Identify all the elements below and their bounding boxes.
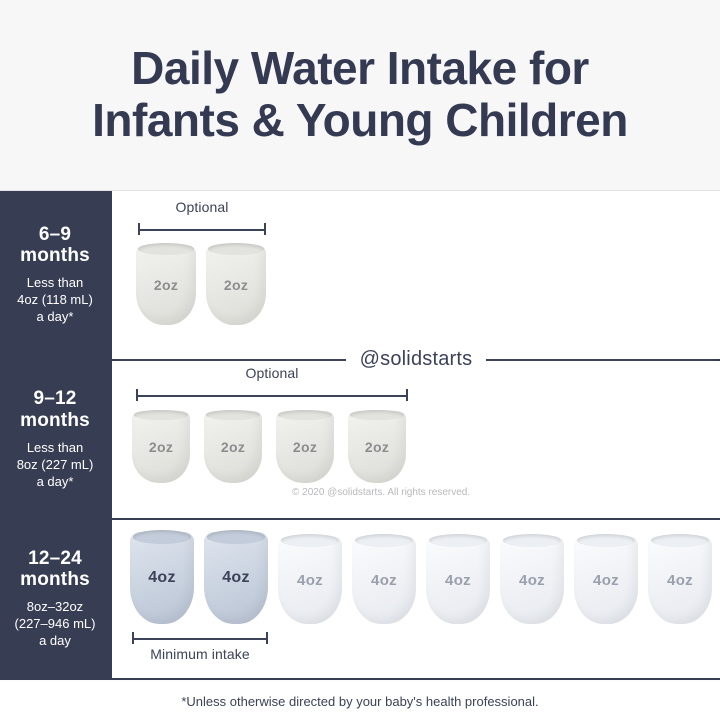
bracket-bar bbox=[138, 229, 266, 231]
cup-label: 2oz bbox=[365, 439, 389, 455]
cup-rim bbox=[133, 530, 192, 544]
footer-bar: *Unless otherwise directed by your baby'… bbox=[0, 683, 720, 720]
sidebar-12-24-months: 12–24 months 8oz–32oz (227–946 mL) a day bbox=[0, 520, 110, 678]
panel-9-12-months: Optional 2oz 2oz bbox=[110, 361, 720, 518]
bracket-bar bbox=[136, 395, 408, 397]
bracket-label-optional-row1: Optional bbox=[138, 199, 266, 215]
cup-rim bbox=[206, 410, 259, 421]
bracket-cap-right bbox=[264, 223, 266, 235]
cup-row-12-24-months: 4oz 4oz 4oz 4oz bbox=[130, 532, 712, 624]
cup-4oz-3: 4oz bbox=[278, 536, 342, 624]
cup-label: 2oz bbox=[221, 439, 245, 455]
cup-rim bbox=[134, 410, 187, 421]
cup-label: 4oz bbox=[222, 569, 250, 587]
watermark-handle: @solidstarts bbox=[346, 348, 487, 371]
bracket-cap-right bbox=[266, 632, 268, 644]
bracket-cap-right bbox=[406, 389, 408, 401]
age-row-6-9-months: 6–9 months Less than 4oz (118 mL) a day*… bbox=[0, 191, 720, 361]
header-banner: Daily Water Intake for Infants & Young C… bbox=[0, 0, 720, 191]
cup-rim bbox=[350, 410, 403, 421]
amount-label: 8oz–32oz (227–946 mL) a day bbox=[15, 599, 96, 650]
age-range-label: 12–24 months bbox=[20, 548, 90, 591]
copyright-note: © 2020 @solidstarts. All rights reserved… bbox=[292, 487, 470, 498]
age-range-label: 9–12 months bbox=[20, 388, 90, 431]
age-range-line-2: months bbox=[20, 245, 90, 266]
cup-label: 2oz bbox=[224, 277, 248, 293]
amount-label: Less than 4oz (118 mL) a day* bbox=[17, 275, 93, 326]
cup-label: 2oz bbox=[293, 439, 317, 455]
bracket-optional-row2 bbox=[136, 389, 408, 401]
cup-4oz-7: 4oz bbox=[574, 536, 638, 624]
panel-6-9-months: Optional 2oz 2oz bbox=[110, 191, 720, 359]
cup-2oz-1: 2oz bbox=[132, 411, 190, 483]
page-title-line-1: Daily Water Intake for bbox=[131, 43, 589, 95]
cup-2oz-4: 2oz bbox=[348, 411, 406, 483]
cup-2oz-1: 2oz bbox=[136, 245, 196, 325]
page-title-line-2: Infants & Young Children bbox=[92, 95, 628, 147]
bracket-cap-left bbox=[138, 223, 140, 235]
cup-4oz-8: 4oz bbox=[648, 536, 712, 624]
cup-label: 4oz bbox=[297, 572, 323, 589]
watermark-divider: @solidstarts bbox=[112, 348, 720, 371]
cup-4oz-5: 4oz bbox=[426, 536, 490, 624]
amount-label: Less than 8oz (227 mL) a day* bbox=[17, 440, 94, 491]
watermark-line-left bbox=[116, 359, 346, 361]
infographic-root: Daily Water Intake for Infants & Young C… bbox=[0, 0, 720, 720]
cup-row-6-9-months: 2oz 2oz bbox=[136, 245, 266, 325]
cup-4oz-2: 4oz bbox=[204, 532, 268, 624]
amount-line-3: a day bbox=[15, 633, 96, 650]
cup-label: 4oz bbox=[445, 572, 471, 589]
age-range-line-1: 9–12 bbox=[20, 388, 90, 409]
bracket-minimum-intake bbox=[132, 632, 268, 644]
cup-2oz-2: 2oz bbox=[206, 245, 266, 325]
amount-line-1: Less than bbox=[17, 275, 93, 292]
amount-line-2: 4oz (118 mL) bbox=[17, 292, 93, 309]
sidebar-9-12-months: 9–12 months Less than 8oz (227 mL) a day… bbox=[0, 361, 110, 518]
watermark-line-right bbox=[486, 359, 716, 361]
cup-label: 4oz bbox=[148, 569, 176, 587]
amount-line-1: 8oz–32oz bbox=[15, 599, 96, 616]
bracket-label-minimum-intake: Minimum intake bbox=[132, 646, 268, 662]
cup-rim bbox=[278, 410, 331, 421]
cup-label: 4oz bbox=[667, 572, 693, 589]
cup-2oz-3: 2oz bbox=[276, 411, 334, 483]
sidebar-6-9-months: 6–9 months Less than 4oz (118 mL) a day* bbox=[0, 191, 110, 359]
amount-line-2: 8oz (227 mL) bbox=[17, 457, 94, 474]
cup-label: 4oz bbox=[519, 572, 545, 589]
age-range-line-1: 6–9 bbox=[20, 224, 90, 245]
cup-label: 2oz bbox=[149, 439, 173, 455]
cup-label: 4oz bbox=[593, 572, 619, 589]
cup-2oz-2: 2oz bbox=[204, 411, 262, 483]
bracket-bar bbox=[132, 638, 268, 640]
age-row-9-12-months: 9–12 months Less than 8oz (227 mL) a day… bbox=[0, 361, 720, 520]
cup-4oz-6: 4oz bbox=[500, 536, 564, 624]
age-rows: 6–9 months Less than 4oz (118 mL) a day*… bbox=[0, 191, 720, 683]
bracket-cap-left bbox=[132, 632, 134, 644]
cup-label: 2oz bbox=[154, 277, 178, 293]
age-range-line-2: months bbox=[20, 410, 90, 431]
amount-line-3: a day* bbox=[17, 309, 93, 326]
cup-4oz-1: 4oz bbox=[130, 532, 194, 624]
cup-label: 4oz bbox=[371, 572, 397, 589]
cup-4oz-4: 4oz bbox=[352, 536, 416, 624]
age-row-12-24-months: 12–24 months 8oz–32oz (227–946 mL) a day… bbox=[0, 520, 720, 680]
amount-line-3: a day* bbox=[17, 474, 94, 491]
footer-note: *Unless otherwise directed by your baby'… bbox=[181, 694, 538, 709]
age-range-line-1: 12–24 bbox=[20, 548, 90, 569]
age-range-label: 6–9 months bbox=[20, 224, 90, 267]
bracket-cap-left bbox=[136, 389, 138, 401]
panel-12-24-months: 4oz 4oz 4oz 4oz bbox=[110, 520, 720, 678]
bracket-optional-row1 bbox=[138, 223, 266, 235]
age-range-line-2: months bbox=[20, 569, 90, 590]
amount-line-2: (227–946 mL) bbox=[15, 616, 96, 633]
cup-rim bbox=[207, 530, 266, 544]
amount-line-1: Less than bbox=[17, 440, 94, 457]
cup-row-9-12-months: 2oz 2oz 2oz 2oz bbox=[132, 411, 406, 483]
